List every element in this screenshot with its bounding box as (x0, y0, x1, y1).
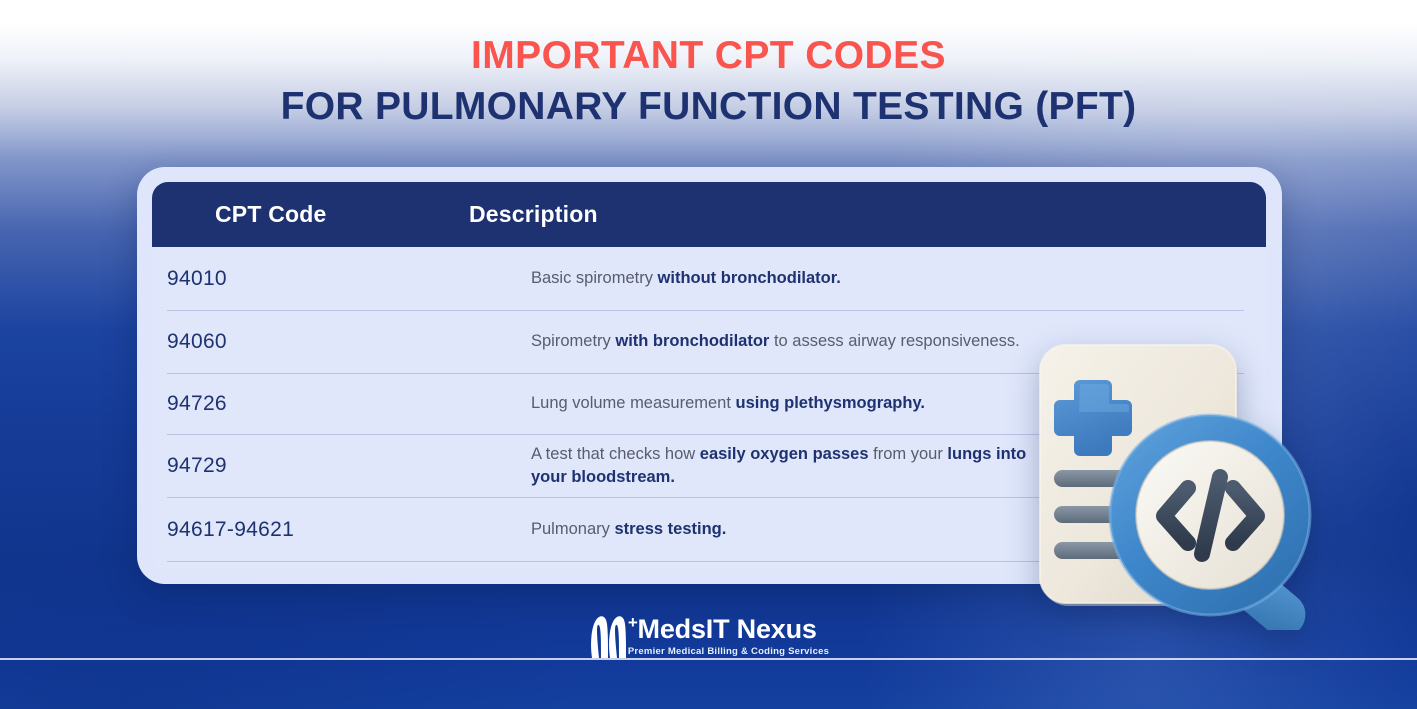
cell-description: Basic spirometry without bronchodilator. (531, 267, 841, 290)
cell-cpt-code: 94729 (167, 454, 531, 478)
description-text: Basic spirometry (531, 269, 658, 287)
cell-description: Pulmonary stress testing. (531, 518, 726, 541)
description-text: from your (869, 445, 948, 463)
table-header-row: CPT Code Description (152, 182, 1266, 247)
description-emphasis: using plethysmography. (736, 394, 925, 412)
logo-name-text: MedsIT Nexus (638, 614, 817, 644)
medsit-nexus-logo-mark (588, 614, 626, 660)
cell-cpt-code: 94010 (167, 267, 531, 291)
cell-cpt-code: 94726 (167, 392, 531, 416)
brand-logo[interactable]: +MedsIT Nexus Premier Medical Billing & … (0, 614, 1417, 660)
description-text: A test that checks how (531, 445, 700, 463)
description-emphasis: stress testing. (614, 520, 726, 538)
cell-description: A test that checks how easily oxygen pas… (531, 443, 1036, 490)
title-line-secondary: FOR PULMONARY FUNCTION TESTING (PFT) (0, 83, 1417, 131)
table-row: 94010Basic spirometry without bronchodil… (152, 247, 1266, 310)
description-text: to assess airway responsiveness. (769, 332, 1019, 350)
logo-tagline: Premier Medical Billing & Coding Service… (628, 646, 829, 657)
cell-cpt-code: 94060 (167, 330, 531, 354)
cell-description: Spirometry with bronchodilator to assess… (531, 330, 1020, 353)
logo-wordmark: +MedsIT Nexus (628, 614, 829, 643)
description-emphasis: with bronchodilator (615, 332, 769, 350)
medical-document-magnifier-illustration (1012, 340, 1357, 630)
logo-plus-sign: + (628, 613, 638, 632)
cell-cpt-code: 94617-94621 (167, 518, 531, 542)
description-emphasis: easily oxygen passes (700, 445, 869, 463)
page-title: IMPORTANT CPT CODES FOR PULMONARY FUNCTI… (0, 33, 1417, 131)
description-text: Spirometry (531, 332, 615, 350)
description-emphasis: without bronchodilator. (658, 269, 841, 287)
description-text: Lung volume measurement (531, 394, 736, 412)
title-line-primary: IMPORTANT CPT CODES (0, 33, 1417, 78)
column-header-description: Description (469, 201, 598, 228)
cell-description: Lung volume measurement using plethysmog… (531, 392, 925, 415)
description-text: Pulmonary (531, 520, 614, 538)
column-header-cpt-code: CPT Code (152, 201, 469, 228)
